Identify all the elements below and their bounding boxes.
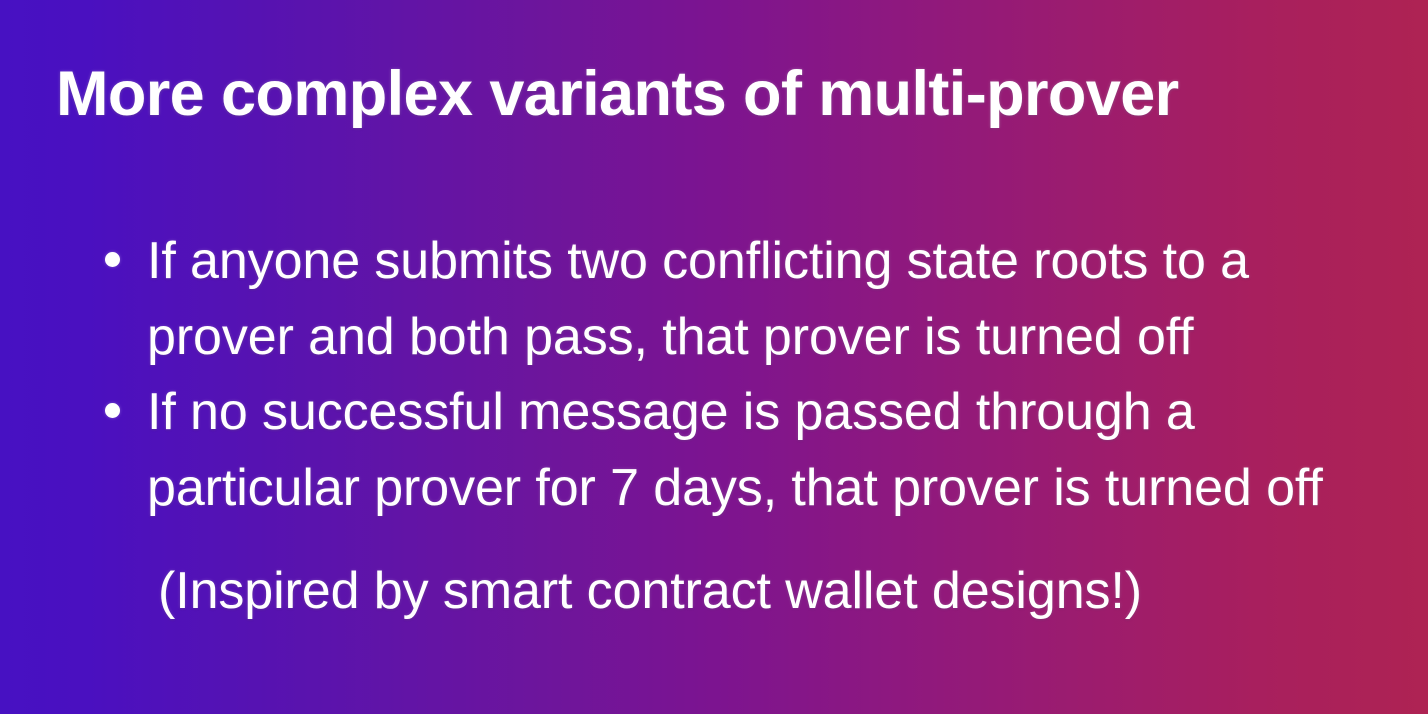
presentation-slide: More complex variants of multi-prover If… bbox=[0, 0, 1428, 714]
list-item-label: If no successful message is passed throu… bbox=[147, 383, 1323, 517]
list-item: If no successful message is passed throu… bbox=[0, 375, 1428, 526]
list-item: If anyone submits two conflicting state … bbox=[0, 224, 1428, 375]
page-title: More complex variants of multi-prover bbox=[56, 46, 1376, 142]
bullet-dot-icon bbox=[105, 252, 120, 267]
bullet-list: If anyone submits two conflicting state … bbox=[0, 224, 1428, 526]
list-item-label: If anyone submits two conflicting state … bbox=[147, 232, 1249, 366]
bullet-dot-icon bbox=[105, 403, 120, 418]
inspiration-note: (Inspired by smart contract wallet desig… bbox=[0, 554, 1428, 630]
slide-body: If anyone submits two conflicting state … bbox=[0, 224, 1428, 630]
